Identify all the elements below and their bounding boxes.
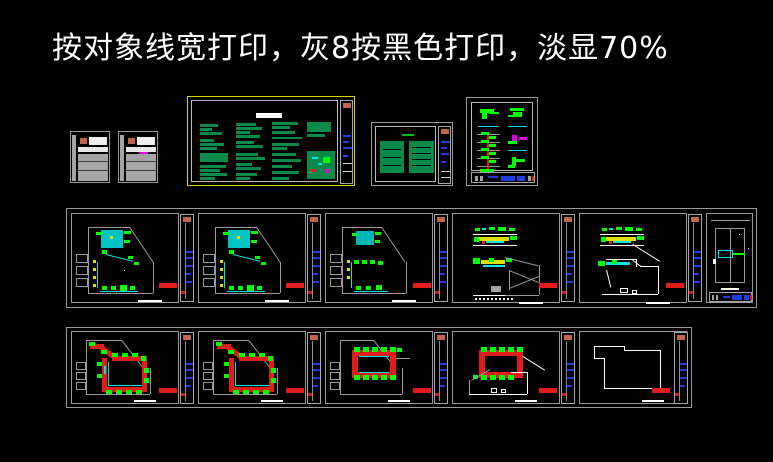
duct-cluster — [101, 230, 123, 248]
sheet-cover-a[interactable] — [70, 131, 110, 183]
titleblock-text-line — [313, 369, 320, 371]
cover-divider — [126, 161, 156, 162]
titleblock-accent-bar — [562, 393, 566, 396]
fixture — [112, 353, 118, 357]
riser-branch — [481, 156, 489, 159]
fixture-row — [366, 286, 371, 290]
fixture — [271, 368, 276, 373]
spec-col2-block9 — [236, 163, 252, 166]
titleblock-rule — [343, 171, 352, 172]
pipe-run-right — [142, 356, 147, 390]
plan-room — [203, 266, 215, 275]
titleblock-text-line — [694, 273, 699, 275]
floor-plan-row-1 — [66, 208, 757, 308]
titleblock-text-line — [694, 265, 701, 267]
titleblock-rule — [441, 171, 450, 172]
titleblock-text-line — [313, 273, 318, 275]
cover-logo-block — [80, 138, 87, 144]
titleblock-accent-bar — [750, 295, 752, 300]
fixture — [363, 347, 369, 352]
fixture — [134, 262, 139, 265]
riser-detail-1b — [482, 113, 487, 119]
titleblock-text-line — [186, 377, 193, 379]
plan-outline-bottom — [213, 394, 277, 395]
scale-bar — [134, 400, 156, 402]
equipment-block — [473, 258, 480, 264]
plan-1-4-callout-bar — [539, 283, 557, 288]
cover-divider-2 — [78, 170, 108, 171]
titleblock-text-line — [186, 363, 193, 365]
fixture — [352, 233, 357, 236]
riser-detail-1c — [489, 112, 499, 114]
duct-branch — [97, 262, 98, 288]
duct-bottom — [354, 291, 388, 292]
sheet-equipment-table[interactable] — [371, 122, 453, 186]
plan-outline-bottom — [340, 394, 402, 395]
equipment-table-right — [409, 141, 434, 173]
section-outline-bottom — [505, 295, 539, 296]
cover-body-panel — [78, 154, 108, 181]
fixture — [263, 390, 269, 394]
plan-2-4[interactable] — [452, 331, 560, 404]
duct-cluster — [228, 230, 250, 248]
table-row-rule — [412, 159, 431, 160]
section-outline-left — [606, 270, 611, 288]
pipe-tag — [104, 366, 106, 374]
spec-col2-block4 — [236, 135, 260, 138]
plan-outline-top — [215, 227, 257, 228]
titleblock-text-line — [567, 363, 574, 365]
fixture-tag — [347, 268, 350, 271]
spec-col4-symbol-red — [311, 169, 316, 172]
section-line — [473, 245, 517, 246]
pipe-inner-line — [359, 356, 389, 357]
fixture — [481, 375, 487, 380]
fixture — [144, 378, 149, 383]
titleblock-text-line — [441, 153, 449, 155]
table-heading-bar — [402, 134, 414, 136]
plan-room — [203, 372, 213, 380]
plan-outline-right — [153, 262, 154, 293]
plan-outline-left — [340, 340, 341, 394]
fixture — [490, 375, 496, 380]
riser-baseline-2 — [508, 126, 527, 127]
fixture — [228, 350, 234, 354]
spec-col1-block2 — [200, 128, 212, 131]
titleblock-text-line — [313, 377, 320, 379]
plan-outline-top — [213, 340, 249, 341]
fixture — [126, 390, 132, 394]
section-outline-bottom — [602, 294, 658, 295]
titleblock-column-separator — [679, 341, 680, 401]
titleblock-logo-icon — [437, 217, 445, 222]
titleblock-accent-bar — [308, 291, 312, 294]
titleblock-text-line — [680, 385, 685, 387]
plan-outline-left — [88, 227, 89, 293]
fixture — [251, 240, 257, 243]
spec-col4-symbol-cyan — [312, 157, 318, 159]
titleblock-text-line — [186, 251, 193, 253]
plan-1-6[interactable] — [706, 213, 753, 303]
plan-room — [330, 362, 340, 370]
equipment-block — [637, 236, 644, 240]
fixture — [268, 356, 273, 361]
titleblock-text-line — [440, 363, 447, 365]
section-fixture — [509, 228, 515, 231]
plan-1-3[interactable] — [325, 213, 433, 303]
plan-2-3-callout-bar — [413, 388, 431, 393]
titleblock-logo-icon — [564, 217, 572, 222]
fixture-row — [370, 260, 375, 264]
section-fixture — [616, 227, 622, 230]
titleblock-text-line — [501, 176, 515, 181]
pipe-inner-line — [235, 362, 236, 386]
spec-col3-block9 — [272, 171, 299, 174]
fixture — [255, 256, 260, 259]
plan-outline-left — [86, 340, 87, 394]
plan-room — [76, 278, 88, 287]
fixture — [124, 240, 130, 243]
titleblock-text-line — [680, 369, 687, 371]
spec-col1-block8 — [200, 169, 220, 172]
fixture-row — [362, 260, 367, 264]
fixture-row — [238, 286, 243, 290]
spec-col2-block10 — [236, 167, 261, 170]
titleblock-text-line — [680, 363, 687, 365]
spec-col2-block5 — [236, 141, 254, 144]
titleblock-text-line — [488, 176, 498, 178]
fixture-row — [356, 286, 361, 290]
fixture — [381, 375, 387, 380]
fixture — [128, 256, 133, 259]
section-inner-line — [509, 270, 510, 290]
plan-2-2[interactable] — [198, 331, 306, 404]
hatch-line — [475, 298, 515, 300]
plan-room — [330, 382, 340, 390]
plan-1-5[interactable] — [579, 213, 687, 303]
fixture-tag — [93, 260, 96, 263]
titleblock-accent-bar — [562, 291, 566, 294]
plan-outline-bottom — [469, 394, 527, 395]
detail-grid-dot — [748, 248, 749, 249]
spec-col2-block2 — [236, 127, 262, 130]
fixture — [223, 232, 229, 235]
table-inner-frame — [375, 126, 436, 182]
titleblock-text-line — [723, 296, 730, 298]
plan-detail — [491, 388, 497, 393]
section-fixture — [489, 227, 495, 230]
spec-col1-block6 — [200, 147, 217, 150]
titleblock-text-line — [567, 369, 574, 371]
spec-col3-block1 — [272, 122, 298, 125]
plan-1-3-title-block[interactable] — [434, 214, 448, 302]
table-row-rule — [383, 157, 401, 158]
spec-title-block[interactable] — [340, 100, 353, 184]
spec-col3-block10 — [272, 177, 289, 180]
fixture — [490, 347, 496, 352]
titleblock-column-separator — [693, 223, 694, 299]
pipe-run-left — [102, 358, 107, 390]
cover-left-band — [72, 135, 76, 181]
titleblock-text-line — [441, 161, 446, 163]
titleblock-text-line — [343, 147, 352, 149]
scale-bar — [515, 400, 537, 402]
titleblock-text-line — [313, 281, 319, 283]
titleblock-text-line — [567, 251, 574, 253]
riser-branch — [489, 136, 496, 139]
spec-col3-dashrow — [272, 137, 302, 139]
spec-heading-bar — [256, 113, 282, 118]
titleblock-column-separator — [185, 223, 186, 299]
fixture — [106, 390, 112, 394]
plan-room — [203, 278, 215, 287]
titleblock-text-line — [186, 273, 191, 275]
titleblock-text-line — [440, 251, 447, 253]
plan-outline-left — [215, 227, 216, 293]
riser-detail-2b — [513, 112, 522, 117]
equipment-block — [489, 258, 494, 262]
titleblock-text-line — [567, 385, 572, 387]
equipment-duct — [613, 241, 631, 243]
plan-2-5-title-block[interactable] — [674, 332, 688, 404]
spec-col2-block3 — [236, 131, 250, 134]
table-sheet-title-block[interactable] — [438, 126, 451, 184]
equipment-duct — [483, 265, 505, 267]
fixture — [97, 362, 102, 366]
plan-outline-left — [469, 380, 470, 394]
spec-col3-block7 — [272, 159, 301, 162]
titleblock-text-line — [313, 265, 320, 267]
titleblock-text-line — [567, 273, 572, 275]
titleblock-cell — [475, 176, 478, 181]
spec-col3-block8 — [272, 165, 292, 168]
spec-col4-legend — [307, 151, 335, 179]
fixture — [508, 347, 514, 352]
spec-col3-block3 — [272, 131, 295, 134]
plan-room — [76, 362, 86, 370]
grid-dot — [124, 270, 125, 271]
plan-outline-bottom — [86, 394, 150, 395]
titleblock-logo-icon — [677, 335, 685, 340]
fixture-tag — [220, 268, 223, 271]
section-outline-right — [658, 266, 659, 294]
titleblock-text-line — [567, 377, 574, 379]
plan-outline-inner — [624, 346, 625, 350]
cover-left-band — [120, 135, 124, 181]
fixture — [499, 375, 505, 380]
fixture — [354, 375, 360, 380]
plan-1-2[interactable] — [198, 213, 306, 303]
equipment-duct — [606, 262, 630, 265]
fixture — [96, 232, 102, 235]
riser-branch — [481, 140, 489, 143]
riser-branch — [489, 152, 496, 155]
fixture-tag — [93, 276, 96, 279]
detail-magenta-2 — [519, 137, 527, 140]
plan-1-5-callout-bar — [666, 283, 684, 288]
scale-bar — [265, 300, 289, 302]
plan-2-5-callout-bar — [652, 388, 670, 393]
fixture — [259, 353, 265, 357]
cover-revision-mark — [139, 152, 148, 154]
titleblock-text-line — [744, 295, 749, 300]
section-detail — [620, 288, 628, 293]
spec-col2-block7 — [236, 153, 258, 156]
fixture-row — [111, 286, 116, 290]
pipe-inner-line — [359, 372, 389, 373]
spec-col1-table — [200, 153, 228, 162]
plan-2-4-callout-bar — [539, 388, 557, 393]
plot-preview-canvas: 按对象线宽打印，灰8按黑色打印，淡显70% — [0, 0, 773, 462]
plan-outline-top — [86, 340, 122, 341]
riser-branch — [489, 144, 496, 147]
plan-outline-right — [150, 368, 151, 394]
titleblock-logo-icon — [437, 335, 445, 340]
section-fixture — [498, 227, 506, 231]
spec-col2-block12 — [236, 177, 250, 180]
scale-bar — [388, 400, 410, 402]
fixture — [517, 347, 523, 352]
plan-room — [330, 278, 342, 287]
fixture — [101, 350, 107, 354]
cover-title-block — [89, 137, 107, 145]
titleblock-logo-icon — [564, 335, 572, 340]
equipment-block — [612, 260, 617, 264]
plan-1-1-title-block[interactable] — [180, 214, 194, 302]
scale-bar — [138, 300, 162, 302]
sheet-specification[interactable] — [187, 96, 355, 186]
titleblock-accent-bar — [435, 291, 439, 294]
section-leader-line — [522, 356, 545, 371]
fixture — [224, 362, 229, 366]
plan-room — [330, 372, 340, 380]
fixture-row — [229, 286, 234, 290]
section-fixture — [625, 227, 633, 231]
titleblock-text-line — [440, 265, 447, 267]
section-duct — [482, 228, 486, 230]
equipment-block — [474, 237, 479, 242]
plan-outline-bottom — [88, 293, 153, 294]
plan-1-4-title-block[interactable] — [561, 214, 575, 302]
detail-title-block[interactable] — [709, 292, 752, 302]
fixture — [390, 347, 396, 352]
titleblock-text-line — [441, 141, 450, 143]
sheet-cover-b[interactable] — [118, 131, 158, 183]
titleblock-text-line — [440, 369, 447, 371]
section-line — [600, 234, 644, 235]
titleblock-text-line — [186, 265, 193, 267]
riser-detail-2c — [508, 115, 514, 117]
plan-1-4[interactable] — [452, 213, 560, 303]
spec-col4-symbol-cyan-2 — [318, 163, 322, 165]
section-duct — [609, 228, 613, 230]
fixture-row — [102, 286, 107, 290]
detail-connection — [733, 253, 745, 255]
section-fixture — [636, 228, 642, 231]
titleblock-column-separator — [312, 223, 313, 299]
plan-2-3-title-block[interactable] — [434, 332, 448, 404]
plan-2-3[interactable] — [325, 331, 433, 404]
scale-bar — [261, 400, 283, 402]
table-row-rule — [412, 165, 431, 166]
riser-title-block[interactable] — [471, 172, 535, 183]
titleblock-logo-icon — [691, 217, 699, 222]
plan-room — [203, 254, 215, 263]
plan-1-2-title-block[interactable] — [307, 214, 321, 302]
plan-2-2-callout-bar — [286, 388, 304, 393]
spec-col2-block1 — [236, 123, 256, 126]
fixture-row — [354, 260, 359, 264]
plan-outline-top-right — [511, 372, 527, 373]
titleblock-text-line — [694, 251, 701, 253]
plan-outline-right — [660, 350, 661, 388]
fixture — [239, 353, 245, 357]
plan-2-1[interactable] — [71, 331, 179, 404]
plan-2-5[interactable] — [579, 331, 687, 404]
equipment-block — [510, 236, 517, 240]
titleblock-text-line — [313, 251, 320, 253]
spec-col4-symbol-green — [323, 157, 330, 163]
plan-2-1-title-block[interactable] — [180, 332, 194, 404]
plan-2-4-title-block[interactable] — [561, 332, 575, 404]
riser-baseline-1 — [478, 126, 498, 127]
titleblock-text-line — [343, 155, 348, 157]
fixture — [233, 390, 239, 394]
plan-1-1[interactable] — [71, 213, 179, 303]
titleblock-text-line — [567, 257, 574, 259]
titleblock-text-line — [186, 257, 193, 259]
titleblock-logo-icon — [310, 217, 318, 222]
titleblock-text-line — [186, 369, 193, 371]
titleblock-cell — [712, 295, 714, 300]
riser-inner-frame — [471, 102, 533, 171]
plan-2-1-callout-bar — [159, 388, 177, 393]
fixture — [499, 347, 505, 352]
riser-branch — [489, 160, 496, 163]
plan-2-2-title-block[interactable] — [307, 332, 321, 404]
fixture — [122, 353, 128, 357]
page-title: 按对象线宽打印，灰8按黑色打印，淡显70% — [52, 29, 752, 69]
spec-col4-header — [307, 122, 331, 132]
titleblock-logo-icon — [183, 335, 191, 340]
titleblock-text-line — [313, 363, 320, 365]
scale-bar — [646, 302, 670, 304]
duct-cluster — [356, 231, 374, 245]
cover-logo-block — [128, 138, 135, 144]
plan-room — [76, 372, 86, 380]
titleblock-cell — [480, 176, 483, 181]
cover-subtitle-strip — [78, 147, 108, 152]
plan-1-5-title-block[interactable] — [688, 214, 702, 302]
titleblock-column-separator — [439, 341, 440, 401]
fixture-row — [257, 286, 262, 290]
fixture — [397, 348, 402, 352]
plan-1-2-callout-bar — [286, 283, 304, 288]
detail-green-4c — [508, 165, 515, 168]
plan-outline-left — [342, 227, 343, 293]
plan-room — [330, 254, 342, 263]
section-outline-right — [539, 265, 540, 295]
scale-bar — [642, 400, 664, 402]
sheet-riser-details[interactable] — [466, 97, 538, 186]
equipment-block — [598, 261, 605, 266]
riser-branch — [481, 132, 489, 135]
spec-col2-block11 — [236, 173, 257, 176]
fixture — [363, 375, 369, 380]
fixture-tag — [237, 236, 240, 239]
fixture — [224, 374, 229, 378]
fixture — [381, 347, 387, 352]
